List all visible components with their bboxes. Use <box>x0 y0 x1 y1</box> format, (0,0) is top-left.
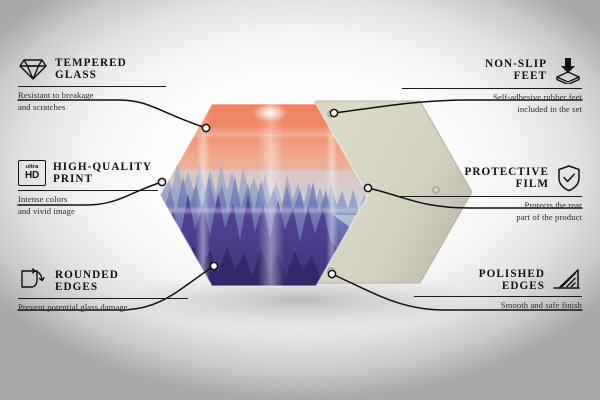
feature-title: PRINT <box>53 173 152 185</box>
feature-tempered-glass: TEMPERED GLASS Resistant to breakage and… <box>18 56 248 113</box>
shield-check-icon <box>556 164 582 192</box>
feature-desc: included in the set <box>352 104 582 116</box>
feature-divider <box>18 298 188 299</box>
feature-desc: Smooth and safe finish <box>352 300 582 312</box>
feature-divider <box>18 190 158 191</box>
feature-title: POLISHED <box>479 268 545 280</box>
feature-desc: Protects the rear <box>352 200 582 212</box>
feature-divider <box>402 88 582 89</box>
feature-title: GLASS <box>55 69 127 81</box>
hatch-triangle-icon <box>552 268 582 292</box>
feature-title: EDGES <box>479 280 545 292</box>
feature-desc: part of the product <box>352 212 582 224</box>
leader-endpoint-polished-edges <box>328 270 335 277</box>
feature-divider <box>396 196 582 197</box>
feature-polished-edges: POLISHED EDGES Smooth and safe finish <box>352 268 582 312</box>
feature-title: EDGES <box>55 281 119 293</box>
feature-desc: Self-adhesive rubber feet <box>352 92 582 104</box>
feature-title: TEMPERED <box>55 57 127 69</box>
feature-desc: Intense colors <box>18 194 248 206</box>
feature-desc: Resistant to breakage <box>18 90 248 102</box>
feature-desc: and vivid image <box>18 206 248 218</box>
press-down-pad-icon <box>554 56 582 84</box>
feature-title: FILM <box>465 178 549 190</box>
leader-endpoint-non-slip-feet <box>330 109 337 116</box>
feature-divider <box>18 86 166 87</box>
badge-hd-label: HD <box>25 171 39 181</box>
feature-title: NON-SLIP <box>485 58 547 70</box>
feature-desc: and scratches <box>18 102 248 114</box>
feature-title: FEET <box>485 70 547 82</box>
feature-protective-film: PROTECTIVE FILM Protects the rear part o… <box>352 164 582 223</box>
feature-rounded-edges: ROUNDED EDGES Prevent potential glass da… <box>18 268 248 314</box>
ultra-hd-icon: ultra HD <box>18 160 46 186</box>
feature-title: ROUNDED <box>55 269 119 281</box>
feature-title: PROTECTIVE <box>465 166 549 178</box>
feature-non-slip-feet: NON-SLIP FEET Self-adhesive rubber feet … <box>352 56 582 115</box>
leader-endpoint-tempered-glass <box>202 124 209 131</box>
feature-high-quality-print: ultra HD HIGH-QUALITY PRINT Intense colo… <box>18 160 248 217</box>
feature-divider <box>414 296 582 297</box>
infographic-canvas: TEMPERED GLASS Resistant to breakage and… <box>0 0 600 400</box>
diamond-icon <box>18 56 48 82</box>
feature-title: HIGH-QUALITY <box>53 161 152 173</box>
rounded-corner-icon <box>18 268 48 294</box>
feature-desc: Prevent potential glass damage <box>18 302 248 314</box>
